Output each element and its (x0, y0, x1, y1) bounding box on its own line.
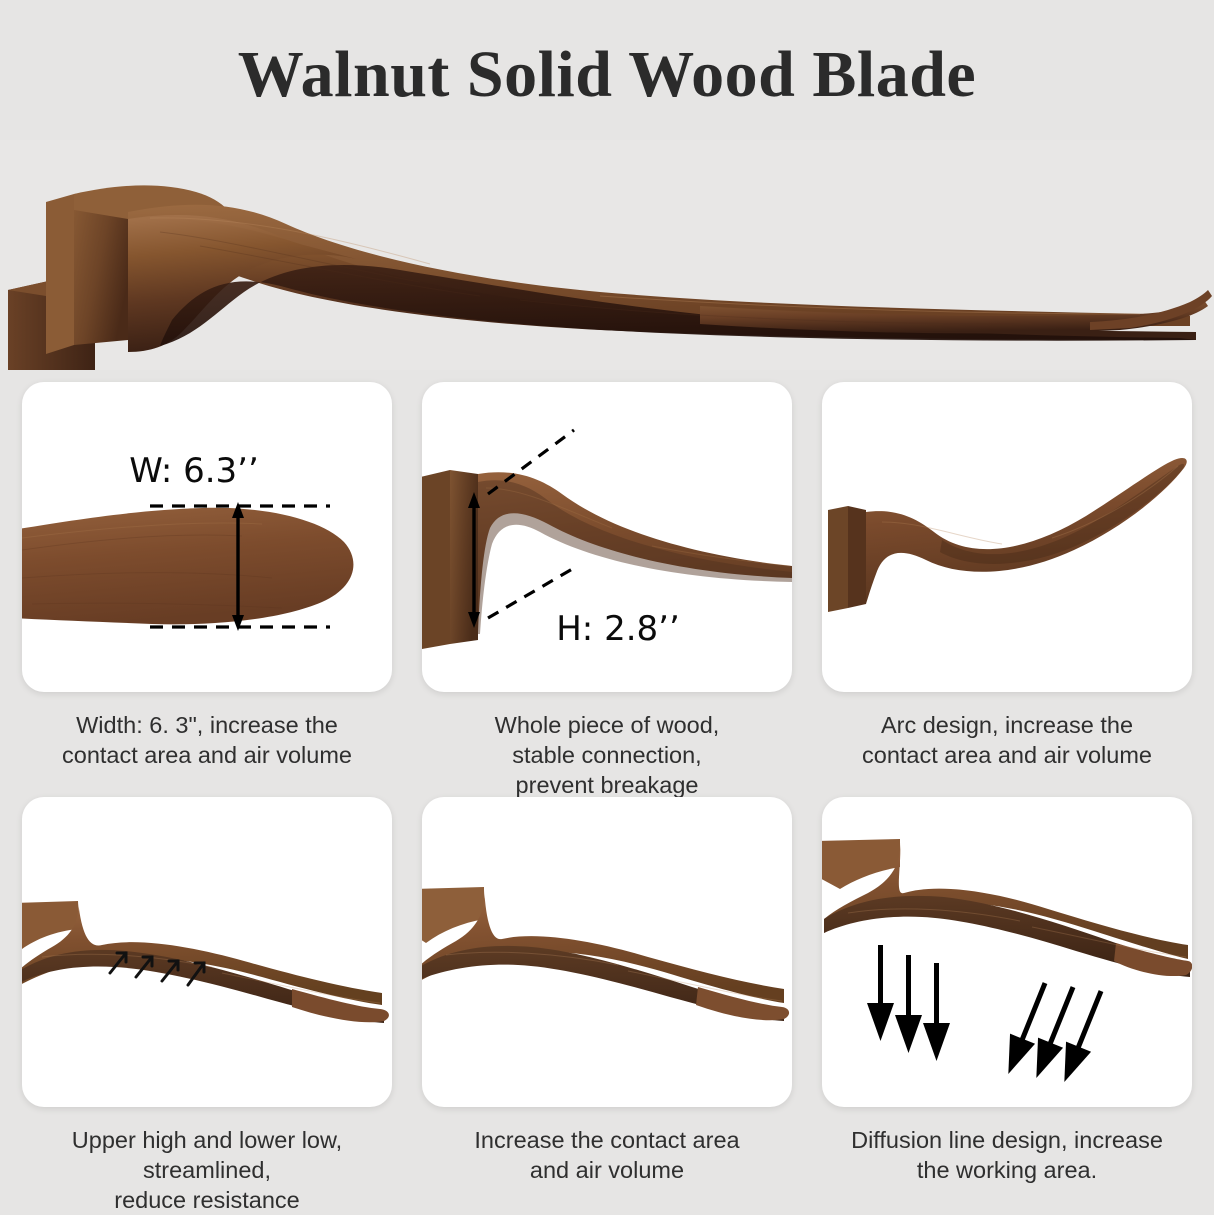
card-streamlined-profile[interactable] (22, 797, 392, 1107)
caption-height: Whole piece of wood, stable connection, … (422, 710, 792, 800)
caption-streamlined: Upper high and lower low, streamlined, r… (22, 1125, 392, 1215)
airflow-arrows-vertical (867, 945, 950, 1061)
page-title: Walnut Solid Wood Blade (0, 42, 1214, 108)
caption-diffusion: Diffusion line design, increase the work… (822, 1125, 1192, 1215)
feature-grid-row-1: W: 6.3’’ (22, 382, 1192, 800)
caption-arc: Arc design, increase the contact area an… (822, 710, 1192, 800)
caption-contact-area: Increase the contact area and air volume (422, 1125, 792, 1215)
width-label: W: 6.3’’ (129, 451, 259, 491)
cards-row-2 (22, 797, 1192, 1107)
height-label: H: 2.8’’ (556, 609, 680, 649)
card-diffusion-lines[interactable] (822, 797, 1192, 1107)
card-height-measure[interactable]: H: 2.8’’ (422, 382, 792, 692)
caption-width: Width: 6. 3", increase the contact area … (22, 710, 392, 800)
card-width-measure[interactable]: W: 6.3’’ (22, 382, 392, 692)
captions-row-2: Upper high and lower low, streamlined, r… (22, 1125, 1192, 1215)
hero-image (0, 140, 1214, 370)
feature-grid-row-2: Upper high and lower low, streamlined, r… (22, 797, 1192, 1215)
cards-row-1: W: 6.3’’ (22, 382, 1192, 692)
captions-row-1: Width: 6. 3", increase the contact area … (22, 710, 1192, 800)
card-contact-area[interactable] (422, 797, 792, 1107)
airflow-arrows-diagonal (996, 978, 1114, 1087)
card-arc-design[interactable] (822, 382, 1192, 692)
